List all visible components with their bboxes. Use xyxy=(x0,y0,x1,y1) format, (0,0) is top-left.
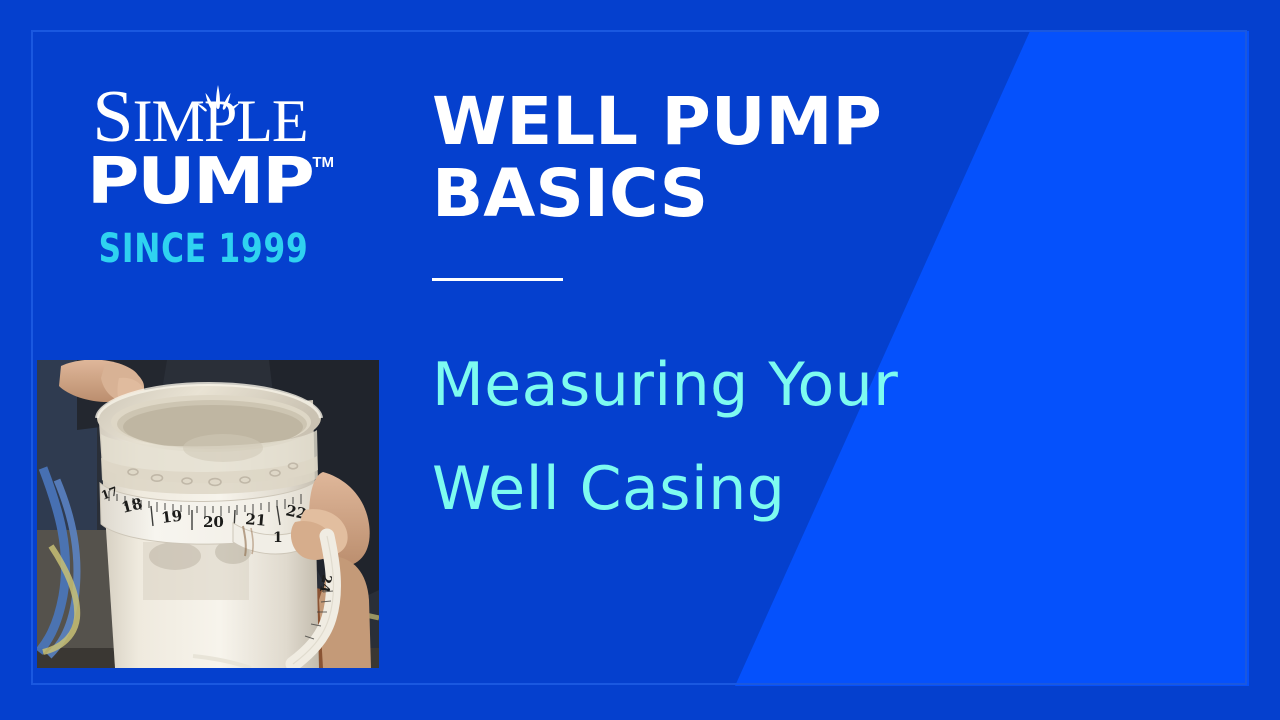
trademark-symbol: TM xyxy=(312,154,334,171)
tape-sub-mark: 1 xyxy=(273,530,283,546)
tape-number-21: 21 xyxy=(245,510,267,530)
logo-word-pump-row: PUMP TM xyxy=(70,150,330,214)
tape-number-19: 19 xyxy=(160,507,183,527)
well-casing-photo: 17 18 19 20 21 22 1 INCH xyxy=(37,360,379,668)
title-text-block: WELL PUMP BASICS Measuring Your Well Cas… xyxy=(432,86,1052,541)
brand-logo: SIMPLE PUMP TM SINCE 1999 xyxy=(70,86,330,270)
well-casing-photo-illustration: 17 18 19 20 21 22 1 INCH xyxy=(37,360,379,668)
tape-number-20: 20 xyxy=(203,513,224,531)
water-droplet-splash-icon xyxy=(193,84,243,118)
page-title: WELL PUMP BASICS xyxy=(432,86,1064,230)
page-subtitle: Measuring Your Well Casing xyxy=(432,333,1052,541)
logo-word-pump: PUMP xyxy=(87,150,313,214)
tape-hanging-number: 24 xyxy=(316,573,334,593)
slide-canvas: SIMPLE PUMP TM SINCE 1999 xyxy=(0,0,1280,720)
title-divider xyxy=(432,278,563,281)
logo-tagline: SINCE 1999 xyxy=(99,228,302,270)
